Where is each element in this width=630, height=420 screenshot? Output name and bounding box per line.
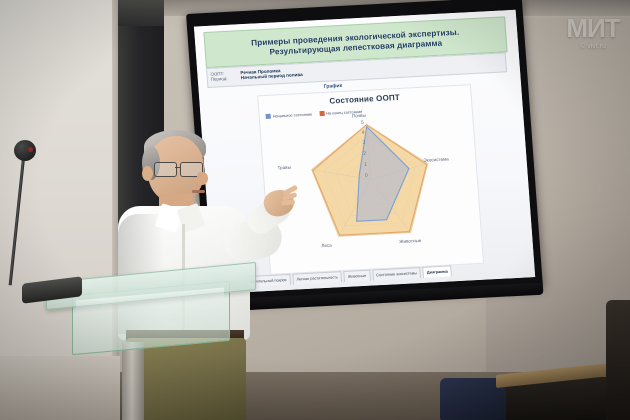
microphone-indicator bbox=[28, 147, 33, 152]
svg-text:2: 2 bbox=[363, 151, 366, 157]
lecture-room-photo: Примеры проведения экологической эксперт… bbox=[0, 0, 630, 420]
pillar-top bbox=[118, 0, 164, 26]
microphone-gooseneck bbox=[9, 158, 26, 286]
ear bbox=[142, 166, 153, 181]
svg-text:1: 1 bbox=[364, 162, 367, 168]
legend-item-initial: Начальное состояние bbox=[266, 112, 313, 119]
watermark-logo: МИТ bbox=[566, 15, 619, 41]
axis-label-bottom-left: Леса bbox=[321, 243, 332, 249]
chair-right-edge bbox=[606, 300, 630, 420]
legend-swatch-initial bbox=[266, 114, 271, 119]
svg-text:3: 3 bbox=[362, 140, 365, 146]
watermark-url: © vivt.ru bbox=[580, 43, 606, 50]
radar-plot: 0 1 2 3 4 5 bbox=[274, 112, 469, 269]
axis-label-top: Почвы bbox=[352, 113, 366, 119]
microphone bbox=[4, 140, 64, 300]
svg-text:5: 5 bbox=[361, 120, 364, 126]
watermark: МИТ © vivt.ru bbox=[560, 6, 626, 58]
legend-swatch-final bbox=[319, 111, 324, 116]
graph-section-label: График bbox=[323, 83, 342, 90]
mouth bbox=[192, 190, 205, 193]
meta-key-period: Период: bbox=[211, 76, 237, 82]
tab-diagram[interactable]: Диаграмма bbox=[423, 265, 453, 277]
legend-label-initial: Начальное состояние bbox=[273, 112, 313, 119]
meta-value-period: Начальный период полива bbox=[241, 73, 303, 81]
tab-forest-vegetation[interactable]: Лесная растительность bbox=[292, 271, 342, 285]
podium-stem bbox=[122, 342, 144, 420]
tab-animals[interactable]: Животные bbox=[343, 270, 370, 282]
svg-text:4: 4 bbox=[362, 130, 365, 136]
glasses-lens-left bbox=[154, 162, 177, 177]
nose bbox=[197, 172, 208, 185]
tab-ecosystem-state[interactable]: Состояние экосистемы bbox=[372, 267, 422, 281]
